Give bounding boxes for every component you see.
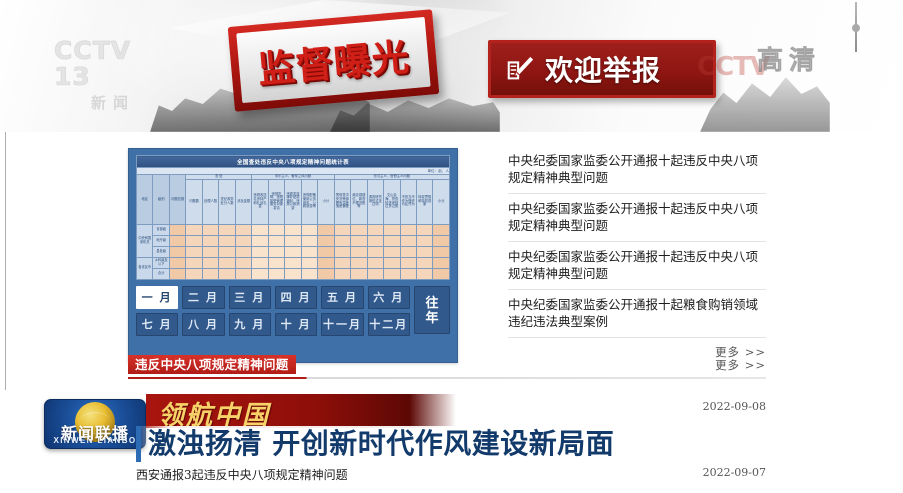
plaque-title-text: 监督曝光 — [255, 26, 411, 93]
col-header-total: 问题总数 — [169, 175, 185, 225]
headline-text: 激浊扬清 开创新时代作风建设新局面 — [148, 426, 614, 462]
news-list: 中央纪委国家监委公开通报十起违反中央八项规定精神典型问题 中央纪委国家监委公开通… — [508, 152, 766, 360]
col-header-vehicles: 违规配备使用公务用车、公款旅游等 — [301, 179, 317, 224]
row-label-level-4: 乡科级及以下 — [153, 257, 169, 268]
col-header-deployment: 贯彻党中央决策部署有温差落差偏差 — [334, 179, 350, 224]
headline-date: 2022-09-08 — [703, 400, 766, 413]
row-label-level-5: 合计 — [153, 268, 169, 279]
page-content: 全国查处违反中央八项规定精神问题统计表 单位：起、人 地区 级别 问题总数 查 … — [0, 132, 903, 493]
program-title-plaque: 监督曝光 — [228, 9, 440, 112]
col-header-subtotal-1: 小计 — [318, 179, 334, 224]
month-button-sep[interactable]: 九 月 — [229, 313, 271, 336]
xinwen-lianbo-logo-en: XINWEN LIANBO — [45, 436, 145, 445]
col-header-area: 地区 — [137, 175, 153, 225]
table-row: 合计 — [137, 268, 450, 279]
section-title: 违反中央八项规定精神问题 — [128, 355, 296, 374]
table-row: 县处级 — [137, 246, 450, 257]
col-header-inaction: 不担当不作为慢作为乱作为 — [400, 179, 416, 224]
col-header-allowances: 违规发放津补贴或福利、违规公款消费 — [285, 179, 301, 224]
past-years-char-1: 往 — [425, 295, 438, 310]
program-banner: CCTV 13 新闻 监督曝光 欢迎举报 CCTV 高清 — [0, 0, 903, 132]
col-header-level: 级别 — [153, 175, 169, 225]
table-row: 各省区市 乡科级及以下 — [137, 257, 450, 268]
month-button-jan[interactable]: 一 月 — [136, 286, 178, 309]
col-header-performance: 政绩观错位、新官不理旧账等 — [351, 179, 367, 224]
welcome-report-button[interactable]: 欢迎举报 — [488, 40, 716, 98]
month-button-oct[interactable]: 十 月 — [275, 313, 317, 336]
table-title-row: 全国查处违反中央八项规定精神问题统计表 — [137, 156, 450, 168]
list-item[interactable]: 中央纪委国家监委公开通报十起违反中央八项规定精神典型问题 — [508, 242, 766, 290]
headline-accent-bar — [136, 426, 141, 462]
col-header-discipline: 党纪政务处分人数 — [219, 179, 235, 224]
cctv13-logo-main: CCTV 13 — [54, 38, 172, 90]
row-label-level-1: 省部级 — [153, 224, 169, 235]
month-button-grid: 一 月 二 月 三 月 四 月 五 月 六 月 七 月 八 月 九 月 十 月 … — [136, 286, 410, 336]
table-row: 地厅级 — [137, 235, 450, 246]
month-button-feb[interactable]: 二 月 — [182, 286, 224, 309]
ticker-date: 2022-09-07 — [703, 466, 766, 479]
month-button-mar[interactable]: 三 月 — [229, 286, 271, 309]
list-item[interactable]: 中央纪委国家监委公开通报十起违反中央八项规定精神典型问题 — [508, 152, 766, 194]
row-label-level-2: 地厅级 — [153, 235, 169, 246]
statistics-panel: 全国查处违反中央八项规定精神问题统计表 单位：起、人 地区 级别 问题总数 查 … — [128, 148, 458, 363]
cctv13-logo: CCTV 13 新闻 — [54, 38, 172, 90]
month-button-jul[interactable]: 七 月 — [136, 313, 178, 336]
section-more-link[interactable]: 更多 >> — [715, 357, 766, 373]
tv-tower-icon — [852, 2, 860, 52]
cctv13-logo-sub: 新闻 — [54, 92, 172, 113]
welcome-report-label: 欢迎举报 — [545, 49, 661, 89]
col-header-research: 调查研究搞形式走过场 — [367, 179, 383, 224]
month-button-aug[interactable]: 八 月 — [182, 313, 224, 336]
month-button-may[interactable]: 五 月 — [321, 286, 363, 309]
hd-watermark: 高清 — [757, 40, 821, 77]
section-header: 违反中央八项规定精神问题 更多 >> — [128, 355, 766, 381]
col-header-subtotal-2: 小计 — [433, 179, 450, 224]
past-years-char-2: 年 — [425, 310, 438, 325]
past-years-button[interactable]: 往 年 — [414, 286, 450, 334]
col-header-banquets: 违规吃喝、违规接受管理服务对象宴请 — [268, 179, 284, 224]
ticker-headline[interactable]: 西安通报3起违反中央八项规定精神问题 — [136, 466, 348, 483]
table-group-header-row: 地区 级别 问题总数 查 处 享乐主义、奢靡之风问题 形式主义、官僚主义问题 — [137, 175, 450, 180]
news-ticker: 西安通报3起违反中央八项规定精神问题 2022-09-07 — [136, 466, 766, 483]
list-item[interactable]: 中央纪委国家监委公开通报十起违反中央八项规定精神典型问题 — [508, 194, 766, 242]
col-header-problem-count: 问题数 — [186, 179, 202, 224]
month-button-apr[interactable]: 四 月 — [275, 286, 317, 309]
month-button-dec[interactable]: 十二月 — [368, 313, 410, 336]
month-button-jun[interactable]: 六 月 — [368, 286, 410, 309]
col-header-gifts: 违规收送名贵特产和礼品礼金 — [252, 179, 268, 224]
section-rule — [128, 377, 766, 379]
col-header-amount: 涉及金额 — [235, 179, 251, 224]
list-item[interactable]: 中央纪委国家监委公开通报十起粮食购销领域违纪违法典型案例 — [508, 290, 766, 338]
xinwen-lianbo-logo: 新闻联播 XINWEN LIANBO — [44, 399, 146, 449]
row-label-area-2: 各省区市 — [137, 257, 153, 279]
leading-china-ribbon: 领航中国 — [146, 394, 456, 428]
broadcast-overlay: 新闻联播 XINWEN LIANBO 领航中国 激浊扬清 开创新时代作风建设新局… — [0, 388, 903, 493]
table-row: 中央和国家机关 省部级 — [137, 224, 450, 235]
table-title: 全国查处违反中央八项规定精神问题统计表 — [137, 156, 450, 168]
month-selector: 一 月 二 月 三 月 四 月 五 月 六 月 七 月 八 月 九 月 十 月 … — [136, 286, 450, 336]
left-hairline-divider — [5, 132, 6, 390]
row-label-level-3: 县处级 — [153, 246, 169, 257]
report-pen-icon — [505, 54, 535, 84]
month-button-nov[interactable]: 十一月 — [321, 313, 363, 336]
row-label-area-1: 中央和国家机关 — [137, 224, 153, 257]
col-header-meetings: 文山会海、督查检查考核过多过频 — [384, 179, 400, 224]
violations-statistics-table: 全国查处违反中央八项规定精神问题统计表 单位：起、人 地区 级别 问题总数 查 … — [136, 155, 450, 280]
col-header-persons: 处理人数 — [202, 179, 218, 224]
col-header-privilege: 特权思想和特权现象 — [416, 179, 432, 224]
tv-broadcast-screenshot: CCTV 13 新闻 监督曝光 欢迎举报 CCTV 高清 — [0, 0, 903, 493]
headline-bar: 激浊扬清 开创新时代作风建设新局面 — [136, 426, 696, 462]
